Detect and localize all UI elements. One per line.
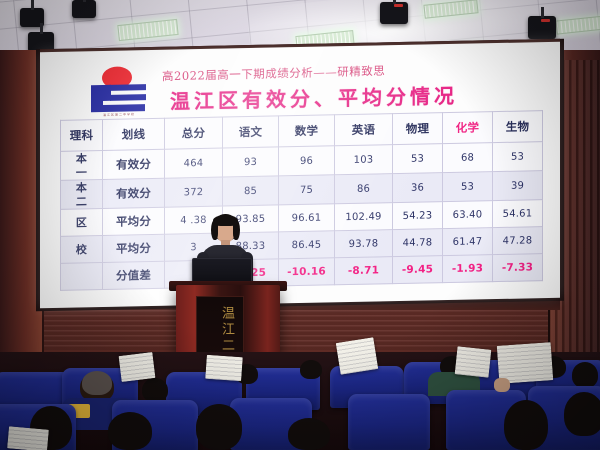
row-group-label [61,262,103,290]
audience-hand [494,378,510,392]
audience-head [142,378,168,402]
audience-head [504,400,548,450]
column-header: 化学 [443,112,493,144]
slide-title: 温江区有效分、平均分情况 [170,80,458,115]
column-header: 语文 [223,116,279,148]
grade-table-wrapper: 理科划线总分语文数学英语物理化学生物本一有效分4649396103536853本… [60,110,542,291]
table-cell: -8.71 [335,257,393,285]
logo-bar-shape [110,94,146,101]
table-cell: 54.23 [393,202,443,230]
stage-spotlight [380,2,408,24]
audience-head [108,412,152,450]
audience-head [572,362,598,388]
audience-head [82,371,112,395]
table-cell: 96 [279,146,335,176]
table-cell: 36 [393,173,443,203]
column-header: 英语 [335,114,393,146]
audience-head [564,392,600,436]
stage-spotlight [72,0,96,18]
table-cell: 86 [335,174,393,204]
slide-header: 温江区第二中学校 高2022届高一下期成绩分析——研精致思 温江区有效分、平均分… [40,46,560,118]
row-group-label: 校 [61,235,103,263]
column-header: 物理 [393,113,443,145]
table-cell: 44.78 [393,229,443,257]
presenter-hair-left [211,220,218,240]
table-cell: 54.61 [493,200,543,228]
handout-paper [205,355,243,381]
logo-caption: 温江区第二中学校 [96,112,142,117]
handout-paper [119,352,156,382]
conference-room-photo: 温江区第二中学校 高2022届高一下期成绩分析——研精致思 温江区有效分、平均分… [0,0,600,450]
presenter-hair-right [233,220,240,240]
table-cell: 85 [223,176,279,206]
table-cell: 93 [223,147,279,177]
table-cell: 63.40 [443,201,493,229]
grade-table: 理科划线总分语文数学英语物理化学生物本一有效分4649396103536853本… [60,110,543,291]
spotlight-indicator [541,19,550,22]
row-group-label: 本一 [61,150,103,180]
row-kind-label: 有效分 [103,178,165,208]
table-cell: 86.45 [279,231,335,259]
row-kind-label: 有效分 [103,149,165,179]
audience-head [288,418,330,450]
table-cell: 61.47 [443,228,493,256]
table-cell: -9.45 [393,256,443,284]
table-cell: 39 [493,171,543,201]
audience-head [300,360,322,379]
table-cell: 96.61 [279,204,335,232]
table-cell: 53 [443,172,493,202]
column-header: 总分 [165,117,223,149]
table-cell: -1.93 [443,255,493,283]
auditorium-seat [348,394,430,450]
row-kind-label: 平均分 [103,207,165,235]
table-cell: 102.49 [335,203,393,231]
row-group-label: 本二 [61,179,103,209]
handout-paper [455,346,492,377]
handout-paper [336,337,379,375]
row-kind-label: 平均分 [103,234,165,262]
projection-screen: 温江区第二中学校 高2022届高一下期成绩分析——研精致思 温江区有效分、平均分… [40,42,560,308]
logo-bar-shape [91,104,145,112]
table-cell: 103 [335,145,393,175]
table-cell: 464 [165,148,223,178]
audience-head [196,404,242,450]
table-cell: 53 [493,142,543,172]
handout-paper [7,426,49,450]
table-cell: 53 [393,144,443,174]
row-kind-label: 分值差 [103,261,165,289]
school-logo-icon: 温江区第二中学校 [88,66,150,117]
table-cell: 75 [279,175,335,205]
table-cell: 47.28 [493,227,543,255]
table-cell: 372 [165,177,223,207]
column-header: 生物 [493,111,543,143]
spotlight-indicator [394,4,403,7]
logo-bar-shape [110,84,146,91]
stage-spotlight [528,16,556,39]
table-cell: 93.78 [335,230,393,258]
column-header: 划线 [103,118,165,150]
column-header: 数学 [279,115,335,147]
table-cell: -7.33 [493,254,543,282]
grade-table-body: 理科划线总分语文数学英语物理化学生物本一有效分4649396103536853本… [61,111,543,291]
table-cell: 68 [443,143,493,173]
column-header: 理科 [61,119,103,151]
row-group-label: 区 [61,208,103,236]
